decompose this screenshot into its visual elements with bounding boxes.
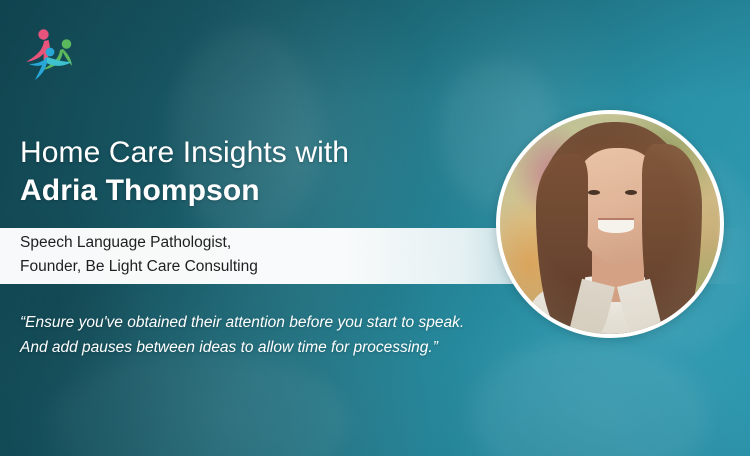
quote: “Ensure you've obtained their attention … (20, 310, 520, 360)
subtitle-line-1: Speech Language Pathologist, (20, 231, 440, 255)
three-people-logo-icon (18, 22, 90, 82)
headline: Home Care Insights with Adria Thompson (20, 134, 480, 211)
home-care-insights-banner: Home Care Insights with Adria Thompson S… (0, 0, 750, 456)
quote-line-1: “Ensure you've obtained their attention … (20, 310, 520, 335)
headline-line-1: Home Care Insights with (20, 134, 480, 172)
portrait-avatar (496, 110, 724, 338)
quote-line-2: And add pauses between ideas to allow ti… (20, 335, 520, 360)
brand-logo (18, 22, 90, 82)
subtitle: Speech Language Pathologist, Founder, Be… (20, 231, 440, 278)
headline-line-2: Adria Thompson (20, 172, 480, 210)
subtitle-line-2: Founder, Be Light Care Consulting (20, 255, 440, 279)
portrait-soft-focus (500, 114, 720, 334)
